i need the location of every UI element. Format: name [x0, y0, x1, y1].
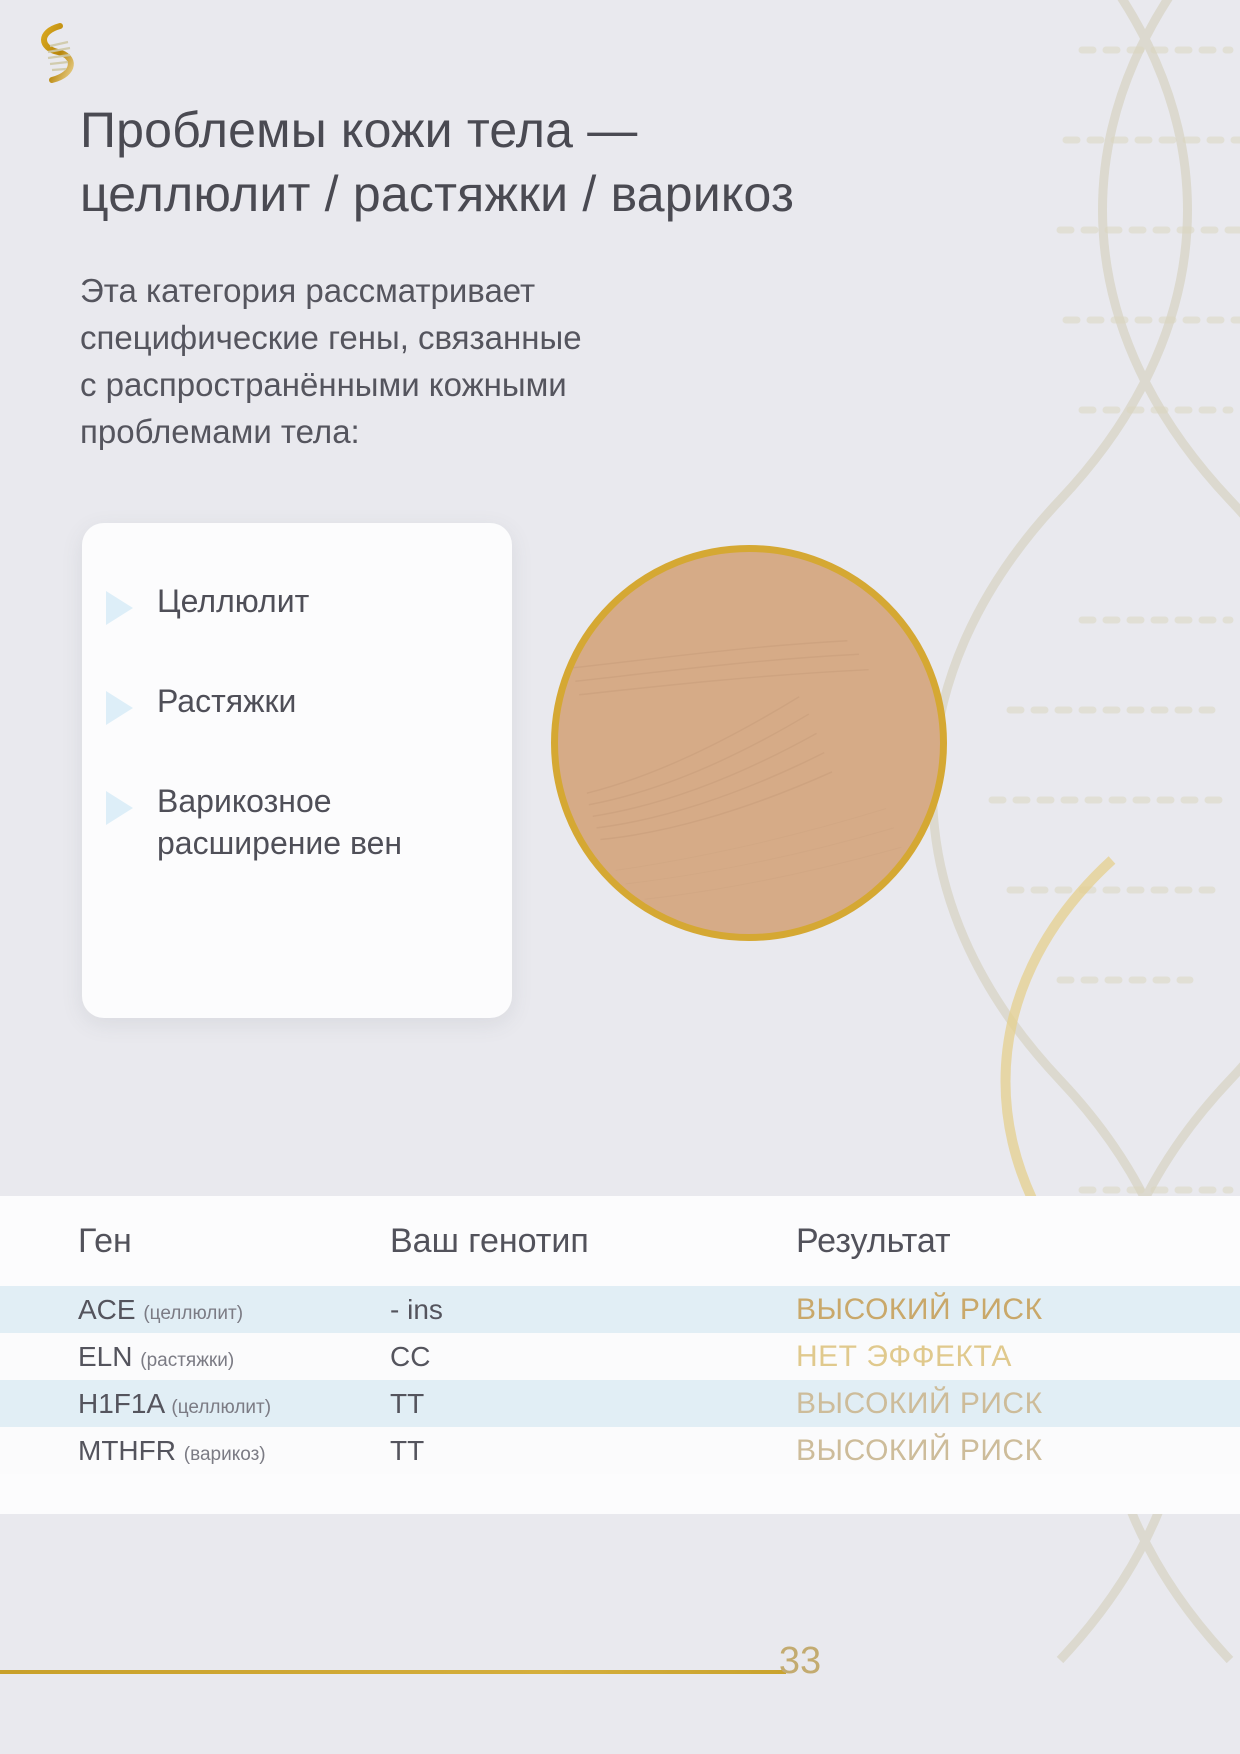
- gene-note: (растяжки): [140, 1350, 234, 1371]
- skin-wrinkle-lines: [558, 552, 940, 934]
- gene-name: ELN: [78, 1341, 132, 1372]
- cell-result: ВЫСОКИЙ РИСК: [796, 1387, 1240, 1421]
- column-header-genotype: Ваш генотип: [390, 1222, 796, 1261]
- table-row: H1F1A (целлюлит) TT ВЫСОКИЙ РИСК: [0, 1380, 1240, 1427]
- cell-genotype: TT: [390, 1388, 796, 1420]
- cell-gene: ACE (целлюлит): [78, 1294, 390, 1326]
- cell-genotype: - ins: [390, 1294, 796, 1326]
- page-title-line-2: целлюлит / растяжки / варикоз: [80, 162, 940, 226]
- column-header-gene: Ген: [78, 1222, 390, 1261]
- triangle-bullet-icon: [106, 691, 133, 725]
- list-item-label: Растяжки: [157, 681, 296, 723]
- column-header-result: Результат: [796, 1222, 1240, 1261]
- triangle-bullet-icon: [106, 591, 133, 625]
- cell-genotype: TT: [390, 1435, 796, 1467]
- triangle-bullet-icon: [106, 791, 133, 825]
- cellulite-skin-photo: [551, 545, 947, 941]
- dna-helix-logo-icon: [26, 18, 84, 88]
- cell-result: НЕТ ЭФФЕКТА: [796, 1340, 1240, 1374]
- gene-note: (целлюлит): [143, 1303, 243, 1324]
- list-item-label: Целлюлит: [157, 581, 309, 623]
- intro-line-3: с распространёнными кожными: [80, 362, 800, 409]
- cell-result: ВЫСОКИЙ РИСК: [796, 1293, 1240, 1327]
- page-title: Проблемы кожи тела — целлюлит / растяжки…: [80, 98, 940, 226]
- footer-rule: [0, 1670, 786, 1674]
- cell-gene: MTHFR (варикоз): [78, 1435, 390, 1467]
- table-row: ACE (целлюлит) - ins ВЫСОКИЙ РИСК: [0, 1286, 1240, 1333]
- gene-note: (целлюлит): [171, 1397, 271, 1418]
- conditions-card: Целлюлит Растяжки Варикозное расширение …: [82, 523, 512, 1018]
- gene-name: MTHFR: [78, 1435, 176, 1466]
- gene-name: ACE: [78, 1294, 136, 1325]
- conditions-list: Целлюлит Растяжки Варикозное расширение …: [106, 581, 492, 864]
- cell-gene: H1F1A (целлюлит): [78, 1388, 390, 1420]
- list-item: Растяжки: [106, 681, 492, 725]
- gene-note: (варикоз): [184, 1444, 266, 1465]
- page-title-line-1: Проблемы кожи тела —: [80, 98, 940, 162]
- list-item: Варикозное расширение вен: [106, 781, 492, 864]
- intro-line-2: специфические гены, связанные: [80, 315, 800, 362]
- intro-line-1: Эта категория рассматривает: [80, 268, 800, 315]
- cell-result: ВЫСОКИЙ РИСК: [796, 1434, 1240, 1468]
- slide-page: Проблемы кожи тела — целлюлит / растяжки…: [0, 0, 1240, 1754]
- table-row: ELN (растяжки) CC НЕТ ЭФФЕКТА: [0, 1333, 1240, 1380]
- table-header-row: Ген Ваш генотип Результат: [0, 1196, 1240, 1286]
- intro-line-4: проблемами тела:: [80, 409, 800, 456]
- table-bottom-padding: [0, 1474, 1240, 1514]
- genes-table: Ген Ваш генотип Результат ACE (целлюлит)…: [0, 1196, 1240, 1514]
- table-row: MTHFR (варикоз) TT ВЫСОКИЙ РИСК: [0, 1427, 1240, 1474]
- list-item-label: Варикозное расширение вен: [157, 781, 447, 864]
- intro-paragraph: Эта категория рассматривает специфически…: [80, 268, 800, 455]
- cell-genotype: CC: [390, 1341, 796, 1373]
- list-item: Целлюлит: [106, 581, 492, 625]
- cell-gene: ELN (растяжки): [78, 1341, 390, 1373]
- gene-name: H1F1A: [78, 1388, 164, 1419]
- page-number: 33: [740, 1640, 860, 1683]
